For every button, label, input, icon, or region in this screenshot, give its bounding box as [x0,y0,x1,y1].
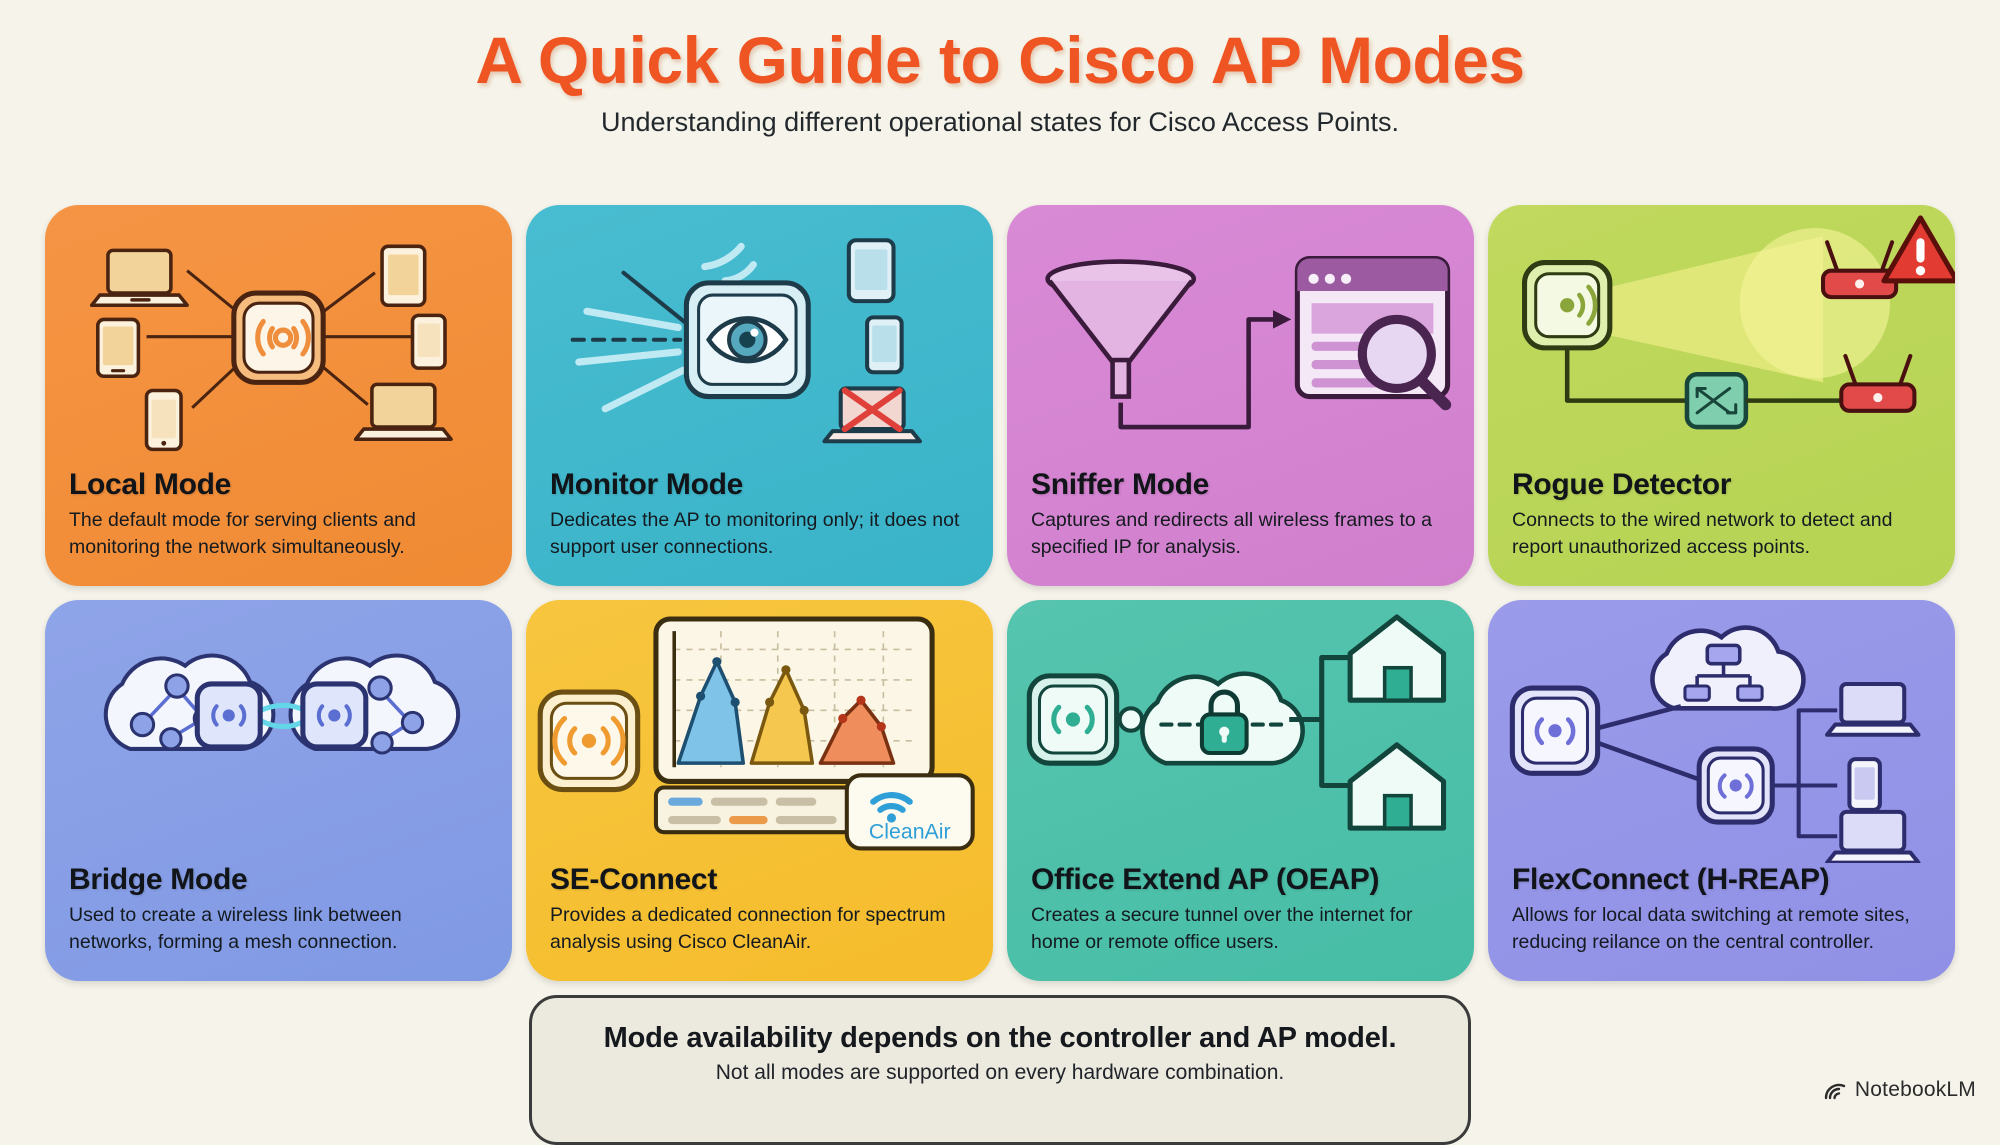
mode-card-monitor-mode[interactable]: Monitor Mode Dedicates the AP to monitor… [526,205,993,586]
rogue-ap-alert-icon [1488,205,1955,468]
card-text-sniffer-mode: Sniffer Mode Captures and redirects all … [1007,468,1474,586]
header: A Quick Guide to Cisco AP Modes Understa… [0,0,2000,138]
footer-note: Mode availability depends on the control… [529,995,1471,1145]
mode-card-rogue-detector[interactable]: Rogue Detector Connects to the wired net… [1488,205,1955,586]
mode-card-bridge-mode[interactable]: Bridge Mode Used to create a wireless li… [45,600,512,981]
card-text-flexconnect: FlexConnect (H-REAP) Allows for local da… [1488,863,1955,981]
eye-scanning-icon [526,205,993,468]
footer-subline: Not all modes are supported on every har… [532,1061,1468,1085]
footer-headline: Mode availability depends on the control… [532,1022,1468,1055]
cloud-local-switching-icon [1488,600,1955,863]
card-title: Bridge Mode [69,863,488,896]
two-clouds-bridge-icon [45,600,512,863]
card-description: The default mode for serving clients and… [69,507,488,560]
mode-card-flexconnect[interactable]: FlexConnect (H-REAP) Allows for local da… [1488,600,1955,981]
card-description: Captures and redirects all wireless fram… [1031,507,1450,560]
mode-card-local-mode[interactable]: Local Mode The default mode for serving … [45,205,512,586]
card-description: Dedicates the AP to monitoring only; it … [550,507,969,560]
card-text-local-mode: Local Mode The default mode for serving … [45,468,512,586]
card-title: Rogue Detector [1512,468,1931,501]
notebooklm-logo-icon [1823,1079,1847,1101]
card-title: Local Mode [69,468,488,501]
mode-card-grid: Local Mode The default mode for serving … [45,205,1955,981]
access-point-star-topology-icon [45,205,512,468]
card-text-bridge-mode: Bridge Mode Used to create a wireless li… [45,863,512,981]
card-text-rogue-detector: Rogue Detector Connects to the wired net… [1488,468,1955,586]
card-title: SE-Connect [550,863,969,896]
card-description: Creates a secure tunnel over the interne… [1031,902,1450,955]
mode-card-sniffer-mode[interactable]: Sniffer Mode Captures and redirects all … [1007,205,1474,586]
cleanair-badge-label: CleanAir [869,819,951,843]
mode-card-se-connect[interactable]: CleanAir SE-Connect Provides a dedicated… [526,600,993,981]
spectrum-analyzer-icon: CleanAir [526,600,993,863]
card-description: Used to create a wireless link between n… [69,902,488,955]
mode-card-office-extend-ap[interactable]: Office Extend AP (OEAP) Creates a secure… [1007,600,1474,981]
page-subtitle: Understanding different operational stat… [0,107,2000,138]
watermark-label: NotebookLM [1855,1078,1976,1102]
card-title: Office Extend AP (OEAP) [1031,863,1450,896]
secure-tunnel-homes-icon [1007,600,1474,863]
card-title: Monitor Mode [550,468,969,501]
page-title: A Quick Guide to Cisco AP Modes [0,26,2000,95]
card-description: Allows for local data switching at remot… [1512,902,1931,955]
card-text-monitor-mode: Monitor Mode Dedicates the AP to monitor… [526,468,993,586]
card-text-se-connect: SE-Connect Provides a dedicated connecti… [526,863,993,981]
infographic-page: A Quick Guide to Cisco AP Modes Understa… [0,0,2000,1116]
card-text-office-extend-ap: Office Extend AP (OEAP) Creates a secure… [1007,863,1474,981]
card-description: Connects to the wired network to detect … [1512,507,1931,560]
card-title: Sniffer Mode [1031,468,1450,501]
watermark: NotebookLM [1823,1078,1976,1102]
card-title: FlexConnect (H-REAP) [1512,863,1931,896]
card-description: Provides a dedicated connection for spec… [550,902,969,955]
funnel-to-analyzer-icon [1007,205,1474,468]
